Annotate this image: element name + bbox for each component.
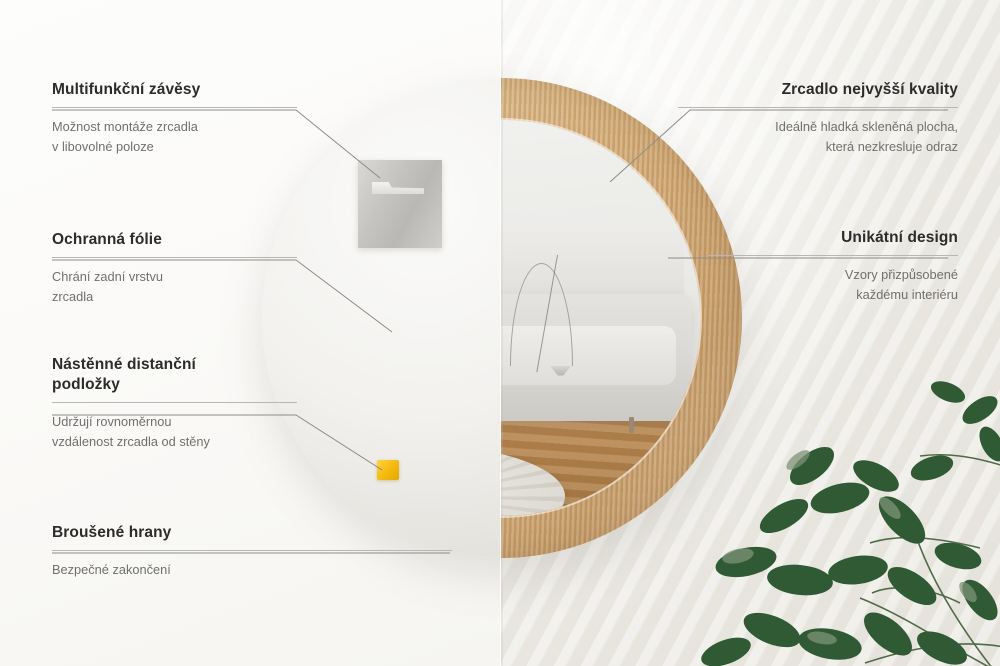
annotation-unique-design: Unikátní design Vzory přizpůsobené každé… [708,228,958,304]
product-infographic: Multifunkční závěsy Možnost montáže zrca… [0,0,1000,666]
desc-line: vzdálenost zrcadla od stěny [52,432,297,451]
desc-line: v libovolné poloze [52,137,297,156]
desc-line: zrcadla [52,287,297,306]
annotation-highest-quality-mirror: Zrcadlo nejvyšší kvality Ideálně hladká … [678,80,958,156]
annotation-desc: Bezpečné zakončení [52,560,452,579]
annotation-rule [52,257,297,258]
title-line: Nástěnné distanční [52,355,297,375]
decorative-plant [680,348,1000,666]
annotation-desc: Vzory přizpůsobené každému interiéru [708,265,958,304]
annotation-title: Ochranná fólie [52,230,297,250]
annotation-rule [708,255,958,256]
annotation-desc: Možnost montáže zrcadla v libovolné polo… [52,117,297,156]
annotation-title: Broušené hrany [52,523,452,543]
title-line: podložky [52,375,297,395]
annotation-multifunctional-hangers: Multifunkční závěsy Možnost montáže zrca… [52,80,297,156]
desc-line: která nezkresluje odraz [678,137,958,156]
plant-leaves [697,377,1000,666]
annotation-rule [52,550,452,551]
annotation-rule [52,402,297,403]
annotation-title: Nástěnné distanční podložky [52,355,297,395]
annotation-title: Multifunkční závěsy [52,80,297,100]
annotation-protective-foil: Ochranná fólie Chrání zadní vrstvu zrcad… [52,230,297,306]
annotation-title: Zrcadlo nejvyšší kvality [678,80,958,100]
annotation-desc: Chrání zadní vrstvu zrcadla [52,267,297,306]
desc-line: Ideálně hladká skleněná plocha, [678,117,958,136]
desc-line: Bezpečné zakončení [52,560,452,579]
annotation-rule [678,107,958,108]
annotation-desc: Ideálně hladká skleněná plocha, která ne… [678,117,958,156]
desc-line: Vzory přizpůsobené [708,265,958,284]
desc-line: každému interiéru [708,285,958,304]
annotation-polished-edges: Broušené hrany Bezpečné zakončení [52,523,452,580]
annotation-wall-spacer-pads: Nástěnné distanční podložky Udržují rovn… [52,355,297,451]
annotation-rule [52,107,297,108]
annotation-title: Unikátní design [708,228,958,248]
annotation-desc: Udržují rovnoměrnou vzdálenost zrcadla o… [52,412,297,451]
desc-line: Chrání zadní vrstvu [52,267,297,286]
desc-line: Udržují rovnoměrnou [52,412,297,431]
desc-line: Možnost montáže zrcadla [52,117,297,136]
